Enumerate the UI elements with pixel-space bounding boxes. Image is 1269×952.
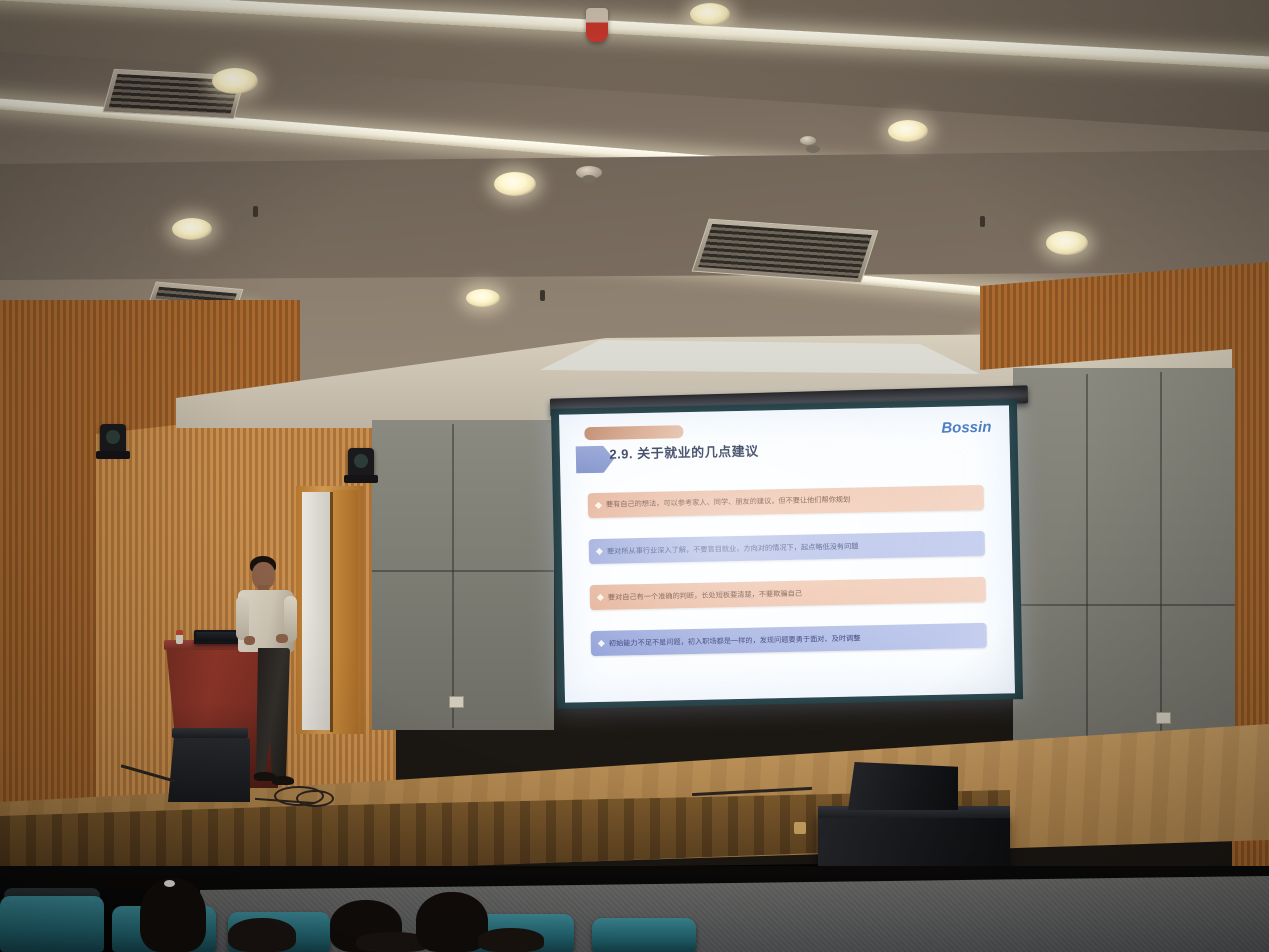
slide-content: 2.9. 关于就业的几点建议 Bossin 要有自己的想法，可以参考家人、同学、…	[559, 405, 1015, 702]
bossin-logo: Bossin	[941, 419, 991, 437]
ceiling-fitting	[540, 290, 545, 301]
slide-bullet-4: 初始能力不足不是问题，初入职场都是一样的，发现问题要勇于面对、及时调整	[591, 623, 987, 656]
downlight	[1046, 231, 1088, 255]
bullet-diamond-icon	[595, 502, 602, 509]
ceiling-fitting	[980, 216, 985, 227]
stage-cable-coil	[296, 790, 334, 807]
slide-accent-bar	[584, 425, 683, 440]
wall-outlet	[1156, 712, 1171, 724]
stage-object-small	[794, 822, 806, 834]
slide-bullet-text: 要对所从事行业深入了解，不要盲目就业，方向对的情况下，起点略低没有问题	[607, 541, 859, 556]
stage-speaker-right-upper	[848, 762, 958, 810]
slide-bullet-text: 要有自己的想法，可以参考家人、同学、朋友的建议，但不要让他们帮你规划	[606, 495, 851, 510]
presenter-trousers	[256, 648, 290, 778]
panel-seam	[452, 424, 454, 728]
presenter-arm-left	[236, 596, 249, 640]
auditorium-photo: 2.9. 关于就业的几点建议 Bossin 要有自己的想法，可以参考家人、同学、…	[0, 0, 1269, 952]
audience-person	[140, 878, 206, 952]
panel-seam	[372, 570, 554, 572]
door-hinge-edge	[330, 492, 333, 732]
panel-seam	[1013, 604, 1235, 606]
presenter-shoe	[272, 776, 294, 785]
downlight	[690, 3, 730, 25]
laptop-screen	[196, 632, 238, 641]
downlight	[466, 289, 500, 307]
slide-bullet-text: 初始能力不足不是问题，初入职场都是一样的，发现问题要勇于面对、及时调整	[609, 633, 861, 648]
slide-bullet-1: 要有自己的想法，可以参考家人、同学、朋友的建议，但不要让他们帮你规划	[588, 485, 984, 518]
audience-person	[478, 928, 544, 952]
wall-speaker-right	[348, 448, 374, 478]
stage-monitor-top	[172, 728, 248, 738]
stage-monitor-speaker	[168, 730, 250, 802]
wall-acoustic-panel-left	[372, 420, 554, 730]
slide-title: 2.9. 关于就业的几点建议	[609, 441, 759, 463]
projection-screen: 2.9. 关于就业的几点建议 Bossin 要有自己的想法，可以参考家人、同学、…	[559, 405, 1015, 702]
smoke-detector-icon	[576, 166, 602, 179]
audience-person	[228, 918, 296, 952]
bullet-diamond-icon	[598, 640, 605, 647]
door-leaf[interactable]	[332, 490, 358, 734]
downlight	[212, 68, 258, 94]
fire-alarm-icon	[586, 8, 608, 42]
downlight	[494, 172, 536, 196]
presenter-hand	[276, 634, 288, 643]
downlight	[888, 120, 928, 142]
smoke-detector-icon	[800, 136, 816, 145]
ceiling-fitting	[253, 206, 258, 217]
water-bottle	[176, 630, 183, 644]
bullet-diamond-icon	[596, 548, 603, 555]
slide-bullet-3: 要对自己有一个准确的判断，长处短板要清楚，不要欺骗自己	[590, 577, 986, 610]
bullet-diamond-icon	[597, 594, 604, 601]
presenter-hand	[244, 636, 255, 645]
seat-back[interactable]	[0, 896, 104, 952]
downlight	[172, 218, 212, 240]
hair-tie	[164, 880, 175, 887]
seat-back[interactable]	[592, 918, 696, 952]
doorway-opening	[302, 492, 332, 730]
wall-outlet	[449, 696, 464, 708]
vent-louvers	[698, 224, 872, 278]
laptop[interactable]	[194, 630, 240, 644]
wall-speaker-left	[100, 424, 126, 454]
slide-bullet-2: 要对所从事行业深入了解，不要盲目就业，方向对的情况下，起点略低没有问题	[589, 531, 985, 564]
slide-bullet-text: 要对自己有一个准确的判断，长处短板要清楚，不要欺骗自己	[608, 588, 802, 602]
